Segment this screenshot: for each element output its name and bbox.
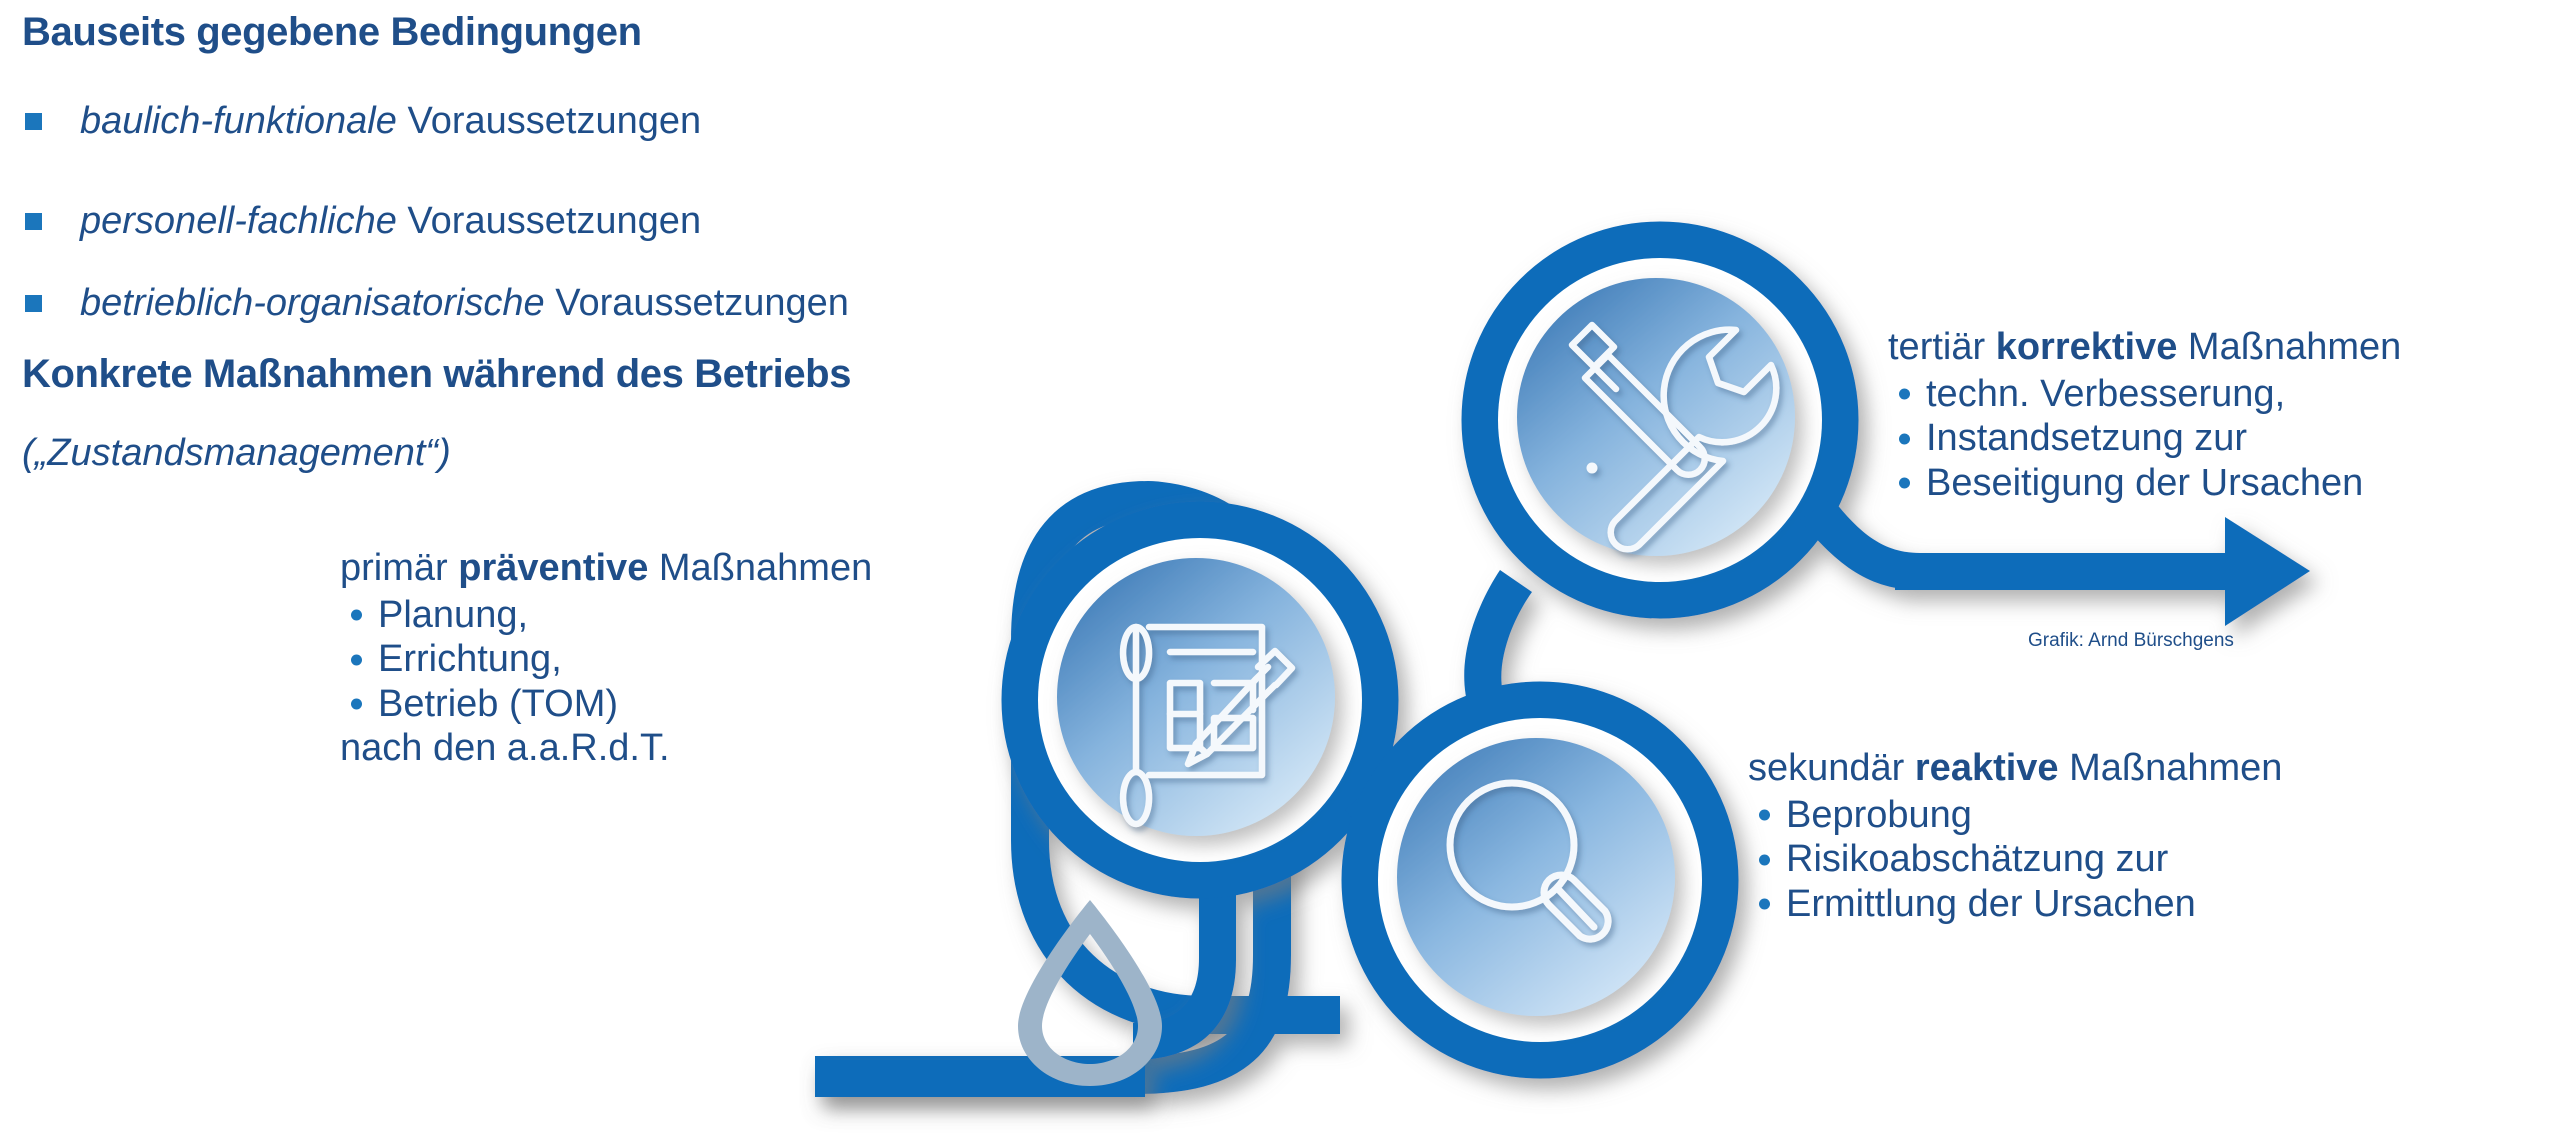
callout-secondary: sekundär reaktive Maßnahmen Beprobung Ri… <box>1748 748 2282 926</box>
list-item: Beseitigung der Ursachen <box>1888 461 2401 505</box>
list-item: Betrieb (TOM) <box>340 682 872 726</box>
callout-primary-title-bold: präventive <box>458 547 648 589</box>
list-item: Ermittlung der Ursachen <box>1748 882 2282 926</box>
slide-canvas: Bauseits gegebene Bedingungen baulich-fu… <box>0 0 2560 1135</box>
callout-primary-footer: nach den a.a.R.d.T. <box>340 726 872 770</box>
callout-secondary-title: sekundär reaktive Maßnahmen <box>1748 748 2282 789</box>
callout-primary-title-suffix: Maßnahmen <box>648 547 872 589</box>
callout-tertiary: tertiär korrektive Maßnahmen techn. Verb… <box>1888 327 2401 505</box>
list-item: Planung, <box>340 593 872 637</box>
stage-disc-primary[interactable] <box>1057 558 1335 836</box>
callout-tertiary-title-bold: korrektive <box>1996 326 2178 368</box>
callout-tertiary-list: techn. Verbesserung, Instandsetzung zur … <box>1888 372 2401 505</box>
stage-disc-tertiary[interactable] <box>1517 278 1795 556</box>
callout-primary-title: primär präventive Maßnahmen <box>340 548 872 589</box>
graphic-credit: Grafik: Arnd Bürschgens <box>2028 630 2234 652</box>
callout-tertiary-title: tertiär korrektive Maßnahmen <box>1888 327 2401 368</box>
list-item: Risikoabschätzung zur <box>1748 837 2282 881</box>
list-item: techn. Verbesserung, <box>1888 372 2401 416</box>
list-item: Beprobung <box>1748 793 2282 837</box>
callout-primary: primär präventive Maßnahmen Planung, Err… <box>340 548 872 771</box>
callout-secondary-title-prefix: sekundär <box>1748 747 1915 789</box>
callout-secondary-list: Beprobung Risikoabschätzung zur Ermittlu… <box>1748 793 2282 926</box>
callout-primary-list: Planung, Errichtung, Betrieb (TOM) <box>340 593 872 726</box>
callout-secondary-title-suffix: Maßnahmen <box>2059 747 2283 789</box>
callout-tertiary-title-prefix: tertiär <box>1888 326 1996 368</box>
callout-secondary-title-bold: reaktive <box>1915 747 2059 789</box>
callout-primary-title-prefix: primär <box>340 547 458 589</box>
list-item: Instandsetzung zur <box>1888 416 2401 460</box>
stage-disc-secondary[interactable] <box>1397 738 1675 1016</box>
callout-tertiary-title-suffix: Maßnahmen <box>2177 326 2401 368</box>
list-item: Errichtung, <box>340 637 872 681</box>
